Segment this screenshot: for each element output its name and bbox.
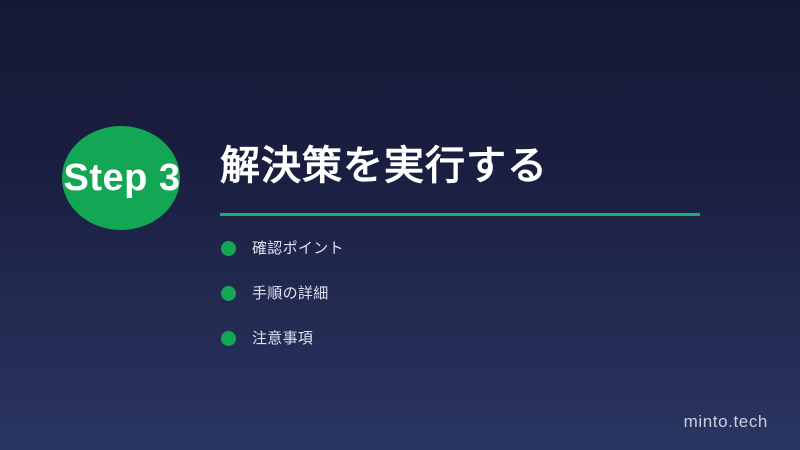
presentation-slide: Step 3 解決策を実行する 確認ポイント 手順の詳細 注意事項 minto.… bbox=[0, 0, 800, 450]
list-item: 手順の詳細 bbox=[221, 285, 681, 302]
list-item-label: 注意事項 bbox=[252, 330, 313, 347]
title-block: 解決策を実行する bbox=[220, 140, 720, 216]
title-divider bbox=[220, 213, 700, 216]
bullet-list: 確認ポイント 手順の詳細 注意事項 bbox=[221, 240, 681, 375]
step-badge: Step 3 bbox=[62, 126, 180, 230]
list-item: 確認ポイント bbox=[221, 240, 681, 257]
footer-brand: minto.tech bbox=[684, 412, 768, 432]
slide-title: 解決策を実行する bbox=[220, 140, 720, 192]
list-item-label: 手順の詳細 bbox=[252, 285, 329, 302]
step-label: Step 3 bbox=[42, 126, 202, 230]
list-item: 注意事項 bbox=[221, 330, 681, 347]
bullet-dot-icon bbox=[221, 331, 236, 346]
list-item-label: 確認ポイント bbox=[252, 240, 344, 257]
bullet-dot-icon bbox=[221, 286, 236, 301]
bullet-dot-icon bbox=[221, 241, 236, 256]
